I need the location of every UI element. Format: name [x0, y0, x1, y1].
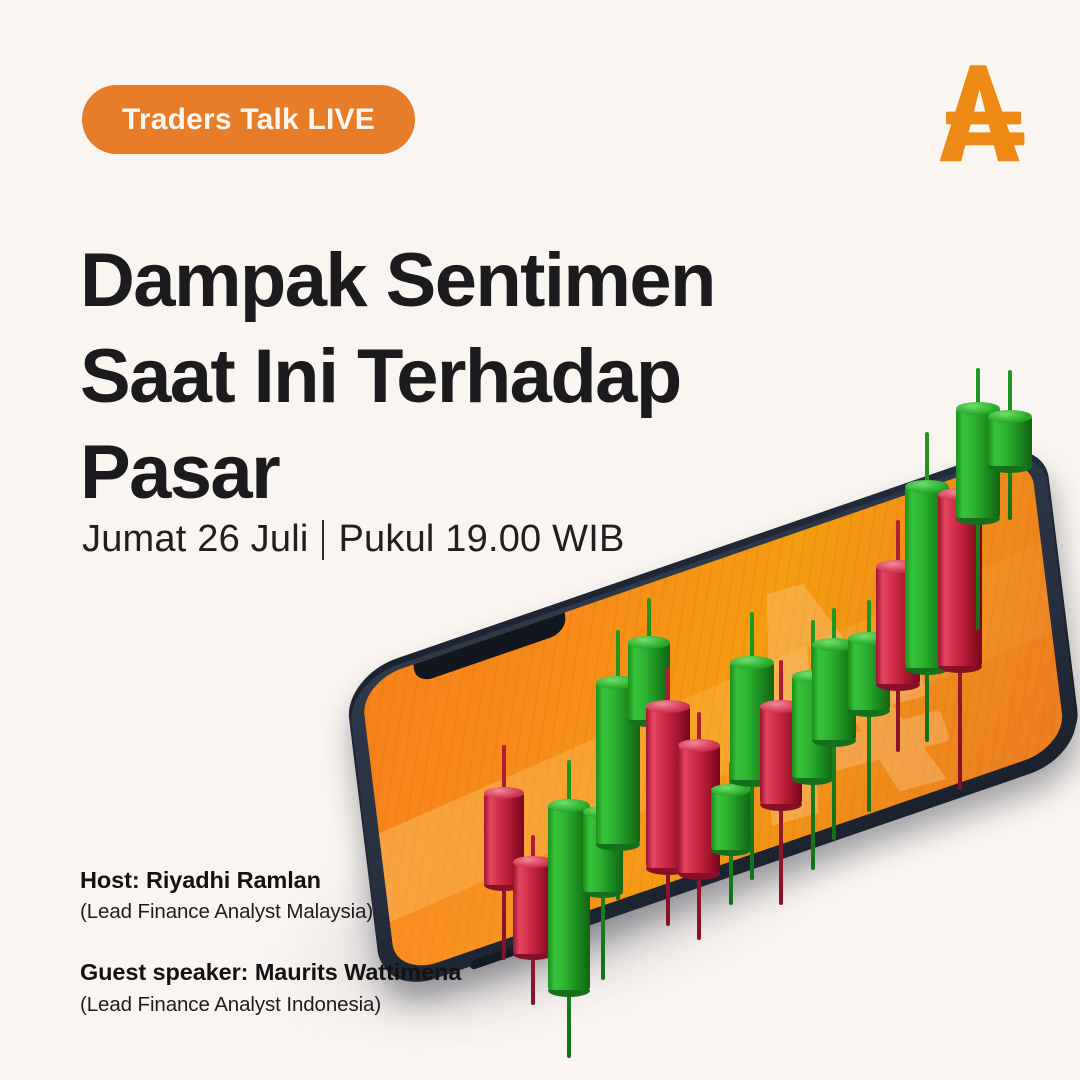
page-title-line-1: Dampak Sentimen [80, 243, 840, 319]
credit-host: Host: Riyadhi Ramlan (Lead Finance Analy… [80, 866, 550, 924]
brand-a-logo-icon [928, 62, 1028, 166]
live-badge[interactable]: Traders Talk LIVE [82, 85, 415, 154]
page-title-line-3: Pasar [80, 435, 840, 511]
credit-guest-name: Guest speaker: Maurits Wattimena [80, 958, 550, 987]
credit-guest-role: (Lead Finance Analyst Indonesia) [80, 993, 550, 1017]
page-title: Dampak Sentimen Saat Ini Terhadap Pasar [80, 243, 840, 531]
live-badge-label: Traders Talk LIVE [122, 103, 375, 137]
schedule-date: Jumat 26 Juli [82, 518, 308, 561]
candlestick-body-cap [956, 402, 1000, 415]
credit-host-name: Host: Riyadhi Ramlan [80, 866, 550, 895]
credits-block: Host: Riyadhi Ramlan (Lead Finance Analy… [80, 866, 550, 1017]
candlestick-body-cap [988, 410, 1032, 423]
promo-poster: Traders Talk LIVE Dampak Sentimen Saat I… [0, 0, 1080, 1080]
page-title-line-2: Saat Ini Terhadap [80, 339, 840, 415]
credit-host-role: (Lead Finance Analyst Malaysia) [80, 900, 550, 924]
credit-guest: Guest speaker: Maurits Wattimena (Lead F… [80, 958, 550, 1016]
schedule-line: Jumat 26 Juli Pukul 19.00 WIB [82, 518, 625, 561]
schedule-separator [322, 520, 324, 560]
schedule-time: Pukul 19.00 WIB [338, 518, 624, 561]
